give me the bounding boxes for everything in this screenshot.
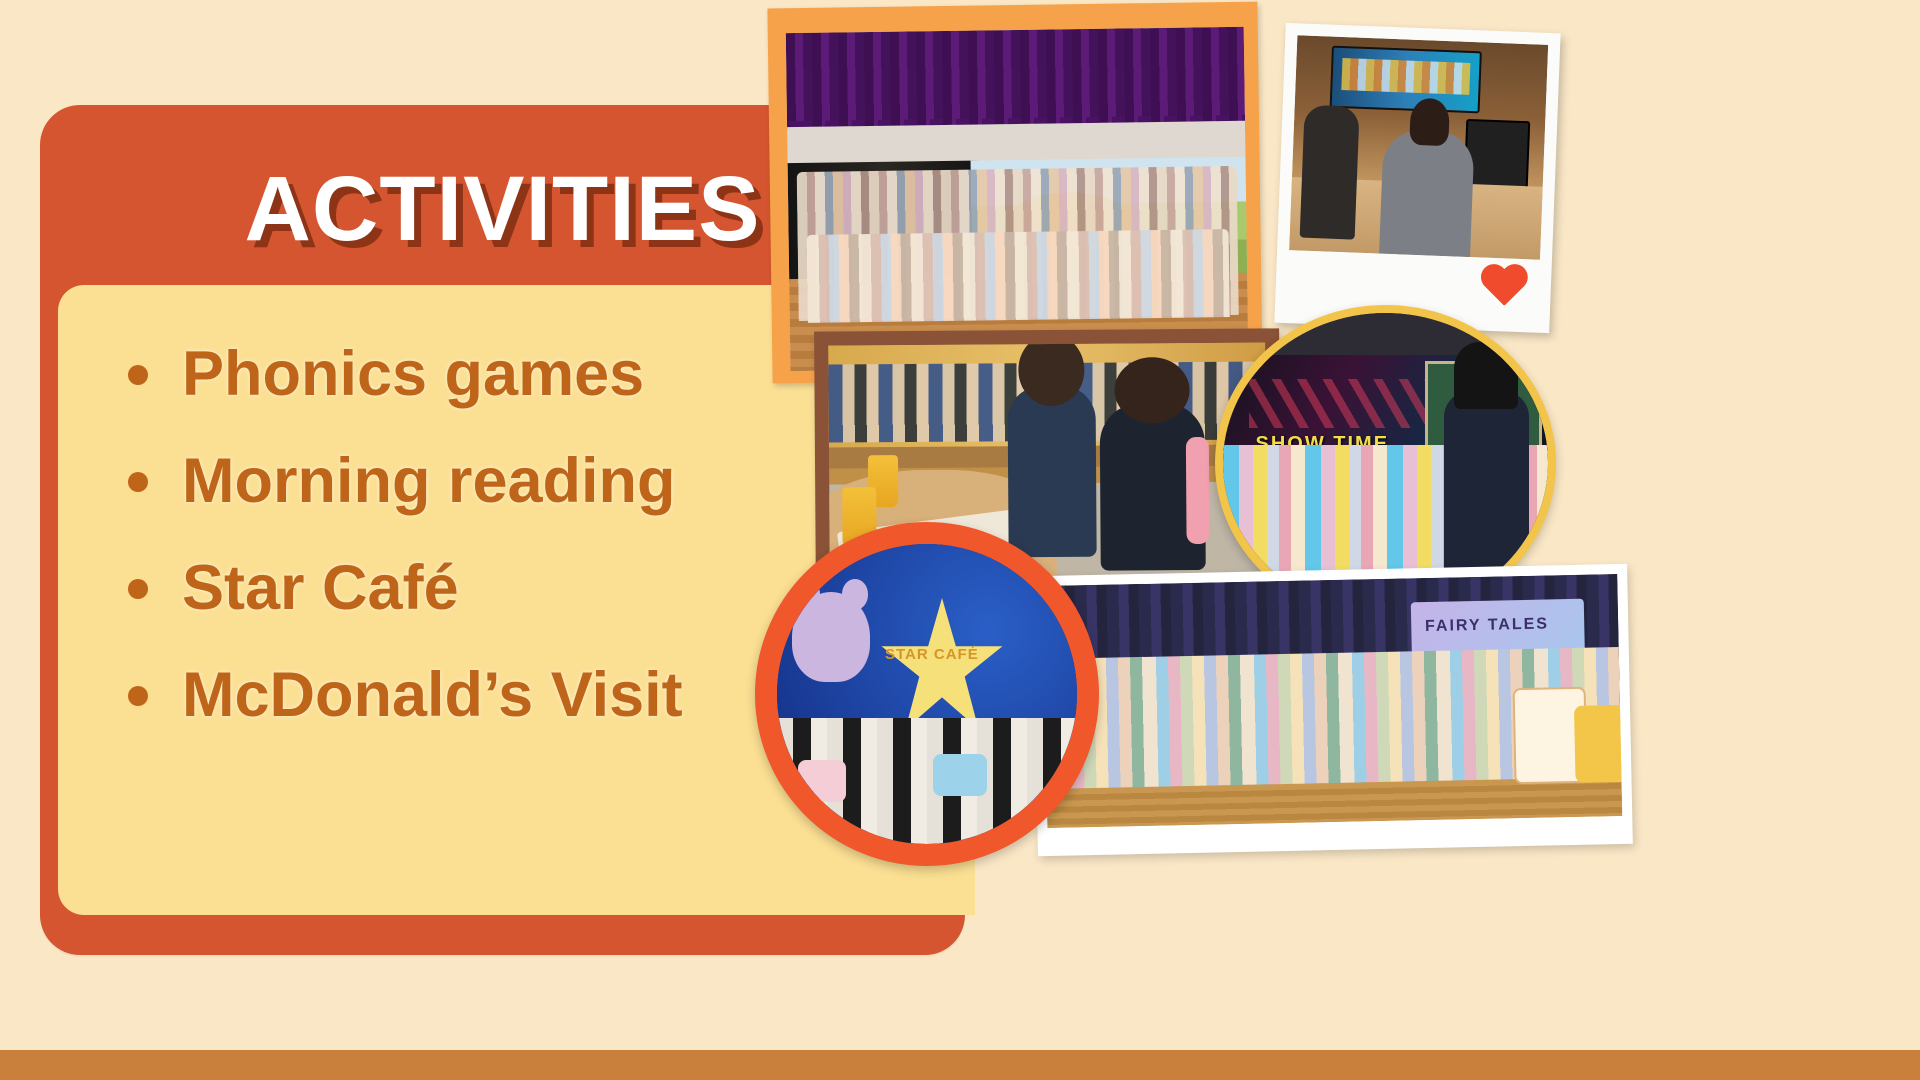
list-item-label: McDonald’s Visit (182, 664, 683, 727)
list-item-label: Morning reading (182, 450, 675, 513)
stage-curtain (786, 27, 1245, 130)
fairy-tales-stage-photo: FAIRY TALES (1032, 564, 1633, 856)
fairy-tales-caption: FAIRY TALES (1425, 614, 1549, 638)
mcdonalds-counter-ordering-photo (1274, 23, 1560, 333)
list-item-label: Phonics games (182, 343, 644, 406)
star-cafe-caption: STAR CAFÉ (885, 646, 979, 663)
bullet-dot-icon (128, 579, 148, 599)
photo-collage: SHOW TIME FAIRY TALES (930, 0, 1920, 1060)
footer-bar (0, 1050, 1920, 1080)
bullet-dot-icon (128, 365, 148, 385)
stage-performance-group-photo (767, 2, 1262, 384)
list-item-label: Star Café (182, 557, 459, 620)
bear-drawing-icon (792, 592, 870, 682)
heart-icon (1479, 265, 1529, 311)
bullet-dot-icon (128, 686, 148, 706)
bullet-dot-icon (128, 472, 148, 492)
star-cafe-whiteboard-photo: STAR CAFÉ (755, 522, 1099, 866)
slide-canvas: ACTIVITIES Phonics games Morning reading… (0, 0, 1920, 1080)
